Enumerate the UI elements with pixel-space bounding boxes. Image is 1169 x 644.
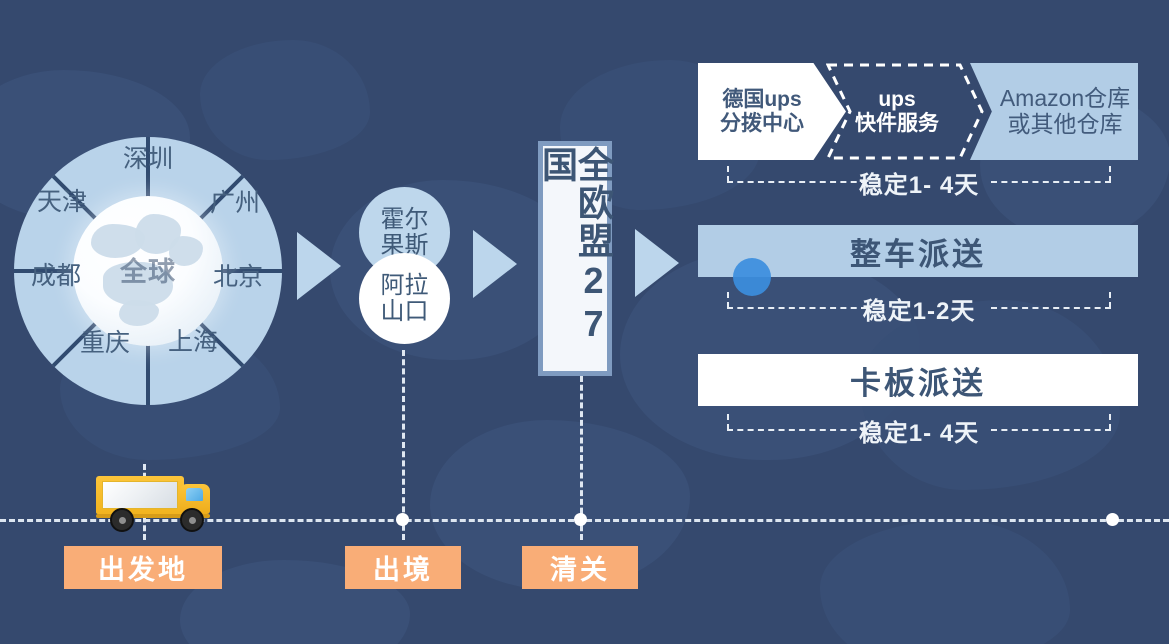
alashankou-line2: 山口 — [381, 299, 429, 324]
khorgas-line1: 霍尔 — [381, 207, 429, 232]
stage-label-customs[interactable]: 清关 — [522, 546, 638, 589]
wheel-city-guangzhou: 广州 — [197, 183, 273, 219]
wheel-city-beijing: 北京 — [200, 257, 276, 293]
destination-eu-box: 全欧盟27国 — [538, 141, 612, 376]
destination-eu-label: 全欧盟27国 — [539, 146, 611, 371]
stage-label-exit-text: 出境 — [373, 548, 433, 587]
transit-time-label-full-truck: 稳定1-2天 — [727, 291, 1111, 326]
arrow-right-triangle-icon — [297, 232, 341, 300]
chevron-germany-ups-line2: 分拨中心 — [720, 112, 804, 136]
timeline-dot-customs — [574, 513, 587, 526]
chevron-germany-ups-hub[interactable]: 德国ups 分拨中心 — [698, 63, 846, 160]
wheel-city-tianjin: 天津 — [24, 182, 100, 218]
wheel-city-chengdu: 成都 — [18, 256, 94, 292]
chevron-ups-express-line2: 快件服务 — [855, 112, 939, 136]
chevron-amazon-warehouse[interactable]: Amazon仓库 或其他仓库 — [970, 63, 1138, 160]
chevron-germany-ups-line1: 德国ups — [720, 88, 804, 112]
logistics-flow-diagram: 全球 深圳 广州 北京 上海 重庆 成都 天津 霍尔 果斯 阿拉 山口 全欧盟2… — [0, 0, 1169, 644]
transit-time-bracket-pallet: 稳定1- 4天 — [727, 414, 1111, 448]
border-crossing-alashankou: 阿拉 山口 — [359, 253, 450, 344]
delivery-bar-pallet-label: 卡板派送 — [850, 358, 986, 403]
chevron-amazon-line2: 或其他仓库 — [1000, 112, 1130, 138]
transit-time-bracket-ups: 稳定1- 4天 — [727, 166, 1111, 200]
stage-label-exit[interactable]: 出境 — [345, 546, 461, 589]
wheel-city-shenzhen: 深圳 — [110, 139, 186, 175]
stage-label-origin[interactable]: 出发地 — [64, 546, 222, 589]
alashankou-line1: 阿拉 — [381, 273, 429, 298]
delivery-bar-pallet[interactable]: 卡板派送 — [698, 354, 1138, 406]
chevron-ups-express-service[interactable]: ups 快件服务 — [826, 63, 984, 160]
transit-time-label-pallet: 稳定1- 4天 — [727, 413, 1111, 448]
transit-time-bracket-full-truck: 稳定1-2天 — [727, 292, 1111, 326]
stage-label-customs-text: 清关 — [550, 548, 610, 587]
chevron-amazon-line1: Amazon仓库 — [1000, 86, 1130, 112]
arrow-right-triangle-icon — [635, 229, 679, 297]
arrow-right-triangle-icon — [473, 230, 517, 298]
wheel-city-chongqing: 重庆 — [67, 323, 143, 359]
timeline-dot-exit — [396, 513, 409, 526]
delivery-truck-icon — [96, 470, 214, 532]
stage-label-origin-text: 出发地 — [98, 548, 188, 587]
wheel-city-shanghai: 上海 — [155, 322, 231, 358]
delivery-bar-full-truck-label: 整车派送 — [850, 229, 986, 274]
chevron-ups-express-line1: ups — [855, 88, 939, 112]
timeline-connector-exit — [402, 350, 405, 540]
timeline-dot-delivery — [1106, 513, 1119, 526]
ups-delivery-chevron-row: 德国ups 分拨中心 ups 快件服务 Amazon仓库 或其他仓库 — [698, 63, 1138, 160]
transit-time-label-ups: 稳定1- 4天 — [727, 165, 1111, 200]
